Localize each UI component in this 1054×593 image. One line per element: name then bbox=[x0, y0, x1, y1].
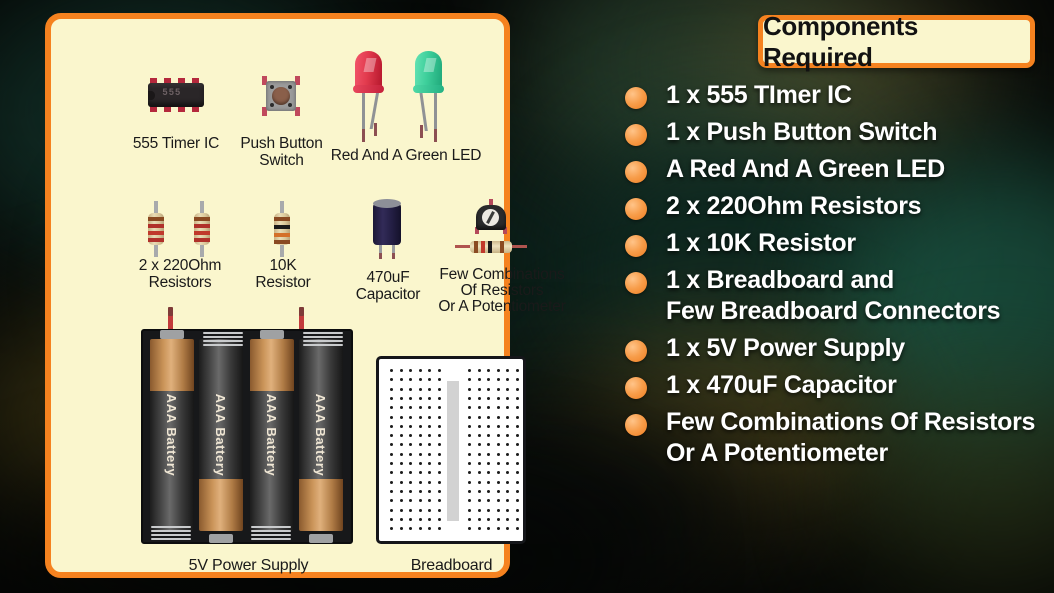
breadboard-hole bbox=[516, 369, 519, 372]
breadboard-hole bbox=[400, 434, 403, 437]
breadboard-hole bbox=[390, 425, 393, 428]
list-item-line: 1 x 555 TImer IC bbox=[666, 80, 1050, 111]
breadboard-hole bbox=[516, 388, 519, 391]
requirements-list: 1 x 555 TImer IC1 x Push Button SwitchA … bbox=[625, 80, 1050, 475]
breadboard-hole bbox=[487, 518, 490, 521]
breadboard-hole bbox=[506, 499, 509, 502]
breadboard-hole bbox=[487, 481, 490, 484]
breadboard-hole bbox=[468, 481, 471, 484]
breadboard-hole bbox=[506, 369, 509, 372]
list-item-line: 1 x Push Button Switch bbox=[666, 117, 1050, 148]
bullet-icon bbox=[625, 198, 647, 220]
breadboard-hole bbox=[409, 425, 412, 428]
breadboard-hole bbox=[506, 425, 509, 428]
breadboard-hole bbox=[390, 443, 393, 446]
list-item: 1 x 470uF Capacitor bbox=[625, 370, 1050, 401]
breadboard-hole bbox=[428, 490, 431, 493]
breadboard-hole bbox=[468, 434, 471, 437]
breadboard-hole bbox=[506, 471, 509, 474]
breadboard-hole bbox=[428, 462, 431, 465]
breadboard-hole bbox=[390, 509, 393, 512]
list-item: 1 x Breadboard andFew Breadboard Connect… bbox=[625, 265, 1050, 327]
breadboard-hole bbox=[409, 416, 412, 419]
breadboard-hole bbox=[419, 388, 422, 391]
breadboard-hole bbox=[487, 453, 490, 456]
led-icon bbox=[349, 51, 389, 143]
breadboard-hole bbox=[409, 388, 412, 391]
breadboard-hole bbox=[468, 378, 471, 381]
breadboard-hole bbox=[478, 388, 481, 391]
breadboard-hole bbox=[487, 462, 490, 465]
breadboard-hole bbox=[438, 499, 441, 502]
breadboard-hole bbox=[390, 388, 393, 391]
breadboard-hole bbox=[487, 388, 490, 391]
breadboard-hole bbox=[409, 369, 412, 372]
breadboard-hole bbox=[478, 434, 481, 437]
breadboard-hole bbox=[487, 527, 490, 530]
breadboard-hole bbox=[409, 471, 412, 474]
breadboard-hole bbox=[428, 416, 431, 419]
list-item-text: 1 x 470uF Capacitor bbox=[666, 370, 1050, 401]
breadboard-hole bbox=[487, 443, 490, 446]
breadboard-hole bbox=[409, 462, 412, 465]
breadboard-hole bbox=[400, 490, 403, 493]
breadboard-hole bbox=[468, 509, 471, 512]
list-item-line: Few Breadboard Connectors bbox=[666, 296, 1050, 327]
breadboard-hole bbox=[487, 434, 490, 437]
list-item-line: 2 x 220Ohm Resistors bbox=[666, 191, 1050, 222]
breadboard-hole bbox=[438, 434, 441, 437]
list-item-text: 1 x Breadboard andFew Breadboard Connect… bbox=[666, 265, 1050, 327]
breadboard-hole bbox=[419, 527, 422, 530]
breadboard-hole bbox=[400, 378, 403, 381]
breadboard-hole bbox=[400, 518, 403, 521]
breadboard-hole bbox=[400, 425, 403, 428]
breadboard-hole bbox=[409, 527, 412, 530]
breadboard-hole bbox=[390, 397, 393, 400]
battery-label: AAA Battery bbox=[299, 339, 343, 531]
breadboard-hole bbox=[428, 527, 431, 530]
breadboard-hole bbox=[390, 434, 393, 437]
list-item: 1 x 555 TImer IC bbox=[625, 80, 1050, 111]
breadboard-hole bbox=[400, 462, 403, 465]
battery-label: AAA Battery bbox=[250, 339, 294, 531]
caption-breadboard: Breadboard bbox=[359, 557, 544, 574]
breadboard-hole bbox=[478, 425, 481, 428]
breadboard-hole bbox=[419, 434, 422, 437]
breadboard-hole bbox=[468, 406, 471, 409]
breadboard-hole bbox=[516, 416, 519, 419]
caption-potentiometer: Few Combinations Of Resistors Or A Poten… bbox=[417, 267, 587, 315]
breadboard-hole bbox=[497, 406, 500, 409]
breadboard-hole bbox=[438, 416, 441, 419]
battery-label: AAA Battery bbox=[150, 339, 194, 531]
breadboard-hole bbox=[478, 378, 481, 381]
breadboard-hole bbox=[419, 406, 422, 409]
breadboard-hole bbox=[487, 471, 490, 474]
breadboard-hole bbox=[419, 499, 422, 502]
breadboard-hole bbox=[390, 406, 393, 409]
breadboard-hole bbox=[428, 425, 431, 428]
push-button-switch-icon bbox=[260, 76, 302, 116]
breadboard-hole bbox=[468, 462, 471, 465]
breadboard-hole bbox=[468, 443, 471, 446]
breadboard-hole bbox=[438, 369, 441, 372]
breadboard-hole bbox=[468, 471, 471, 474]
breadboard-hole bbox=[390, 462, 393, 465]
breadboard-hole bbox=[487, 490, 490, 493]
breadboard-hole bbox=[390, 499, 393, 502]
breadboard-hole bbox=[400, 406, 403, 409]
breadboard-hole bbox=[516, 434, 519, 437]
breadboard-hole bbox=[409, 518, 412, 521]
list-item: Few Combinations Of ResistorsOr A Potent… bbox=[625, 407, 1050, 469]
list-item: 1 x Push Button Switch bbox=[625, 117, 1050, 148]
breadboard-hole bbox=[487, 416, 490, 419]
breadboard-hole bbox=[497, 527, 500, 530]
breadboard-hole bbox=[497, 490, 500, 493]
breadboard-hole bbox=[516, 509, 519, 512]
breadboard-hole bbox=[497, 397, 500, 400]
breadboard-hole bbox=[400, 499, 403, 502]
breadboard-hole bbox=[506, 527, 509, 530]
breadboard-hole bbox=[497, 509, 500, 512]
breadboard-hole bbox=[487, 397, 490, 400]
breadboard-hole bbox=[478, 369, 481, 372]
breadboard-hole bbox=[478, 499, 481, 502]
breadboard-hole bbox=[516, 490, 519, 493]
breadboard-hole bbox=[506, 434, 509, 437]
breadboard-hole bbox=[419, 378, 422, 381]
breadboard-hole bbox=[438, 518, 441, 521]
breadboard-hole bbox=[438, 527, 441, 530]
breadboard-hole bbox=[478, 490, 481, 493]
breadboard-hole bbox=[468, 527, 471, 530]
page-title-text: Components Required bbox=[763, 11, 1030, 73]
breadboard-hole bbox=[438, 471, 441, 474]
list-item-text: 2 x 220Ohm Resistors bbox=[666, 191, 1050, 222]
breadboard-hole bbox=[390, 518, 393, 521]
list-item-text: 1 x 555 TImer IC bbox=[666, 80, 1050, 111]
trimmer-potentiometer-icon bbox=[471, 199, 511, 237]
breadboard-hole bbox=[516, 443, 519, 446]
ic-marking: 555 bbox=[144, 87, 200, 97]
breadboard-hole bbox=[487, 425, 490, 428]
breadboard-hole bbox=[409, 406, 412, 409]
breadboard-hole bbox=[409, 443, 412, 446]
breadboard-hole bbox=[400, 509, 403, 512]
breadboard-hole bbox=[506, 378, 509, 381]
list-item-line: Few Combinations Of Resistors bbox=[666, 407, 1050, 438]
breadboard-hole bbox=[516, 378, 519, 381]
breadboard-hole bbox=[428, 453, 431, 456]
breadboard-hole bbox=[419, 416, 422, 419]
resistor-icon bbox=[455, 240, 527, 254]
bullet-icon bbox=[625, 235, 647, 257]
breadboard-hole bbox=[497, 434, 500, 437]
list-item: 1 x 10K Resistor bbox=[625, 228, 1050, 259]
breadboard-hole bbox=[419, 397, 422, 400]
breadboard-hole bbox=[478, 471, 481, 474]
breadboard-hole bbox=[419, 425, 422, 428]
breadboard-hole bbox=[478, 397, 481, 400]
breadboard-hole bbox=[516, 425, 519, 428]
list-item: A Red And A Green LED bbox=[625, 154, 1050, 185]
breadboard-hole bbox=[497, 462, 500, 465]
resistor-icon bbox=[273, 201, 291, 257]
breadboard-hole bbox=[478, 481, 481, 484]
breadboard-hole bbox=[497, 416, 500, 419]
breadboard-hole bbox=[487, 509, 490, 512]
led-icon bbox=[409, 51, 449, 143]
breadboard-hole bbox=[400, 388, 403, 391]
breadboard-hole bbox=[438, 462, 441, 465]
breadboard-hole bbox=[428, 406, 431, 409]
breadboard-hole bbox=[516, 518, 519, 521]
breadboard-hole bbox=[468, 397, 471, 400]
breadboard-hole bbox=[487, 499, 490, 502]
breadboard-hole bbox=[438, 490, 441, 493]
breadboard-hole bbox=[506, 406, 509, 409]
breadboard-hole bbox=[516, 462, 519, 465]
breadboard-hole bbox=[506, 462, 509, 465]
breadboard-hole bbox=[419, 509, 422, 512]
breadboard-hole bbox=[478, 462, 481, 465]
breadboard-hole bbox=[487, 378, 490, 381]
breadboard-hole bbox=[409, 434, 412, 437]
breadboard-hole bbox=[390, 481, 393, 484]
page-title: Components Required bbox=[758, 15, 1035, 68]
breadboard-hole bbox=[506, 453, 509, 456]
breadboard-hole bbox=[390, 527, 393, 530]
caption-resistors-220: 2 x 220Ohm Resistors bbox=[109, 257, 251, 291]
breadboard-hole bbox=[390, 378, 393, 381]
breadboard-hole bbox=[497, 388, 500, 391]
breadboard-hole bbox=[497, 378, 500, 381]
bullet-icon bbox=[625, 161, 647, 183]
breadboard-hole bbox=[438, 388, 441, 391]
breadboard-hole bbox=[468, 490, 471, 493]
breadboard-icon bbox=[376, 356, 526, 544]
breadboard-hole bbox=[400, 369, 403, 372]
list-item-text: 1 x 10K Resistor bbox=[666, 228, 1050, 259]
breadboard-hole bbox=[438, 481, 441, 484]
breadboard-hole bbox=[478, 518, 481, 521]
breadboard-hole bbox=[409, 499, 412, 502]
breadboard-hole bbox=[428, 509, 431, 512]
components-illustration-panel: 555 555 Timer IC Push Button Switch Red … bbox=[45, 13, 510, 578]
breadboard-hole bbox=[419, 369, 422, 372]
breadboard-hole bbox=[438, 378, 441, 381]
breadboard-hole bbox=[468, 388, 471, 391]
breadboard-hole bbox=[497, 471, 500, 474]
breadboard-hole bbox=[428, 369, 431, 372]
breadboard-hole bbox=[409, 509, 412, 512]
breadboard-hole bbox=[400, 397, 403, 400]
breadboard-hole bbox=[506, 490, 509, 493]
breadboard-hole bbox=[516, 481, 519, 484]
bullet-icon bbox=[625, 272, 647, 294]
breadboard-hole bbox=[478, 406, 481, 409]
breadboard-hole bbox=[419, 481, 422, 484]
breadboard-hole bbox=[400, 416, 403, 419]
breadboard-hole bbox=[438, 453, 441, 456]
battery-label: AAA Battery bbox=[199, 339, 243, 531]
breadboard-hole bbox=[428, 378, 431, 381]
breadboard-hole bbox=[516, 453, 519, 456]
breadboard-hole bbox=[400, 527, 403, 530]
breadboard-hole bbox=[438, 406, 441, 409]
breadboard-hole bbox=[506, 509, 509, 512]
breadboard-hole bbox=[478, 453, 481, 456]
breadboard-hole bbox=[497, 481, 500, 484]
breadboard-hole bbox=[419, 518, 422, 521]
breadboard-hole bbox=[409, 453, 412, 456]
breadboard-hole bbox=[419, 462, 422, 465]
breadboard-hole bbox=[409, 397, 412, 400]
breadboard-hole bbox=[506, 397, 509, 400]
battery-holder-icon: AAA Battery AAA Battery AAA Battery AAA … bbox=[141, 329, 353, 544]
breadboard-hole bbox=[487, 406, 490, 409]
breadboard-hole bbox=[478, 443, 481, 446]
breadboard-hole bbox=[409, 378, 412, 381]
list-item-line: 1 x 10K Resistor bbox=[666, 228, 1050, 259]
list-item: 2 x 220Ohm Resistors bbox=[625, 191, 1050, 222]
breadboard-hole bbox=[478, 527, 481, 530]
breadboard-hole bbox=[400, 481, 403, 484]
caption-resistor-10k: 10K Resistor bbox=[233, 257, 333, 291]
breadboard-hole bbox=[468, 453, 471, 456]
breadboard-hole bbox=[409, 490, 412, 493]
breadboard-hole bbox=[497, 425, 500, 428]
caption-leds: Red And A Green LED bbox=[306, 147, 506, 164]
breadboard-hole bbox=[516, 397, 519, 400]
breadboard-hole bbox=[400, 471, 403, 474]
breadboard-hole bbox=[468, 499, 471, 502]
bullet-icon bbox=[625, 414, 647, 436]
breadboard-hole bbox=[428, 471, 431, 474]
breadboard-hole bbox=[390, 471, 393, 474]
electrolytic-capacitor-icon bbox=[364, 197, 410, 259]
breadboard-hole bbox=[419, 443, 422, 446]
breadboard-hole bbox=[516, 499, 519, 502]
bullet-icon bbox=[625, 340, 647, 362]
dip-ic-icon: 555 bbox=[144, 78, 208, 112]
breadboard-hole bbox=[428, 434, 431, 437]
breadboard-hole bbox=[506, 518, 509, 521]
list-item-line: A Red And A Green LED bbox=[666, 154, 1050, 185]
list-item-line: Or A Potentiometer bbox=[666, 438, 1050, 469]
breadboard-hole bbox=[400, 443, 403, 446]
resistor-icon bbox=[193, 201, 211, 257]
breadboard-hole bbox=[428, 481, 431, 484]
list-item-text: Few Combinations Of ResistorsOr A Potent… bbox=[666, 407, 1050, 469]
list-item: 1 x 5V Power Supply bbox=[625, 333, 1050, 364]
bullet-icon bbox=[625, 124, 647, 146]
breadboard-hole bbox=[516, 406, 519, 409]
list-item-line: 1 x 5V Power Supply bbox=[666, 333, 1050, 364]
breadboard-hole bbox=[497, 453, 500, 456]
breadboard-hole bbox=[400, 453, 403, 456]
breadboard-hole bbox=[419, 453, 422, 456]
list-item-text: 1 x 5V Power Supply bbox=[666, 333, 1050, 364]
caption-power-supply: 5V Power Supply bbox=[161, 557, 336, 574]
list-item-line: 1 x Breadboard and bbox=[666, 265, 1050, 296]
breadboard-hole bbox=[428, 518, 431, 521]
breadboard-hole bbox=[390, 416, 393, 419]
breadboard-hole bbox=[478, 416, 481, 419]
breadboard-hole bbox=[419, 471, 422, 474]
breadboard-hole bbox=[506, 416, 509, 419]
breadboard-hole bbox=[506, 481, 509, 484]
breadboard-hole bbox=[390, 453, 393, 456]
resistor-icon bbox=[147, 201, 165, 257]
breadboard-hole bbox=[468, 416, 471, 419]
list-item-line: 1 x 470uF Capacitor bbox=[666, 370, 1050, 401]
breadboard-hole bbox=[438, 425, 441, 428]
breadboard-hole bbox=[438, 509, 441, 512]
breadboard-hole bbox=[497, 499, 500, 502]
bullet-icon bbox=[625, 87, 647, 109]
breadboard-hole bbox=[468, 369, 471, 372]
breadboard-hole bbox=[497, 443, 500, 446]
breadboard-hole bbox=[506, 388, 509, 391]
breadboard-hole bbox=[428, 499, 431, 502]
breadboard-hole bbox=[468, 518, 471, 521]
breadboard-hole bbox=[497, 518, 500, 521]
breadboard-hole bbox=[428, 397, 431, 400]
breadboard-hole bbox=[516, 471, 519, 474]
breadboard-hole bbox=[438, 443, 441, 446]
breadboard-hole bbox=[497, 369, 500, 372]
breadboard-hole bbox=[468, 425, 471, 428]
breadboard-hole bbox=[516, 527, 519, 530]
breadboard-hole bbox=[438, 397, 441, 400]
list-item-text: 1 x Push Button Switch bbox=[666, 117, 1050, 148]
breadboard-hole bbox=[409, 481, 412, 484]
breadboard-hole bbox=[487, 369, 490, 372]
list-item-text: A Red And A Green LED bbox=[666, 154, 1050, 185]
breadboard-hole bbox=[390, 369, 393, 372]
breadboard-hole bbox=[428, 443, 431, 446]
breadboard-hole bbox=[428, 388, 431, 391]
bullet-icon bbox=[625, 377, 647, 399]
breadboard-hole bbox=[390, 490, 393, 493]
breadboard-hole bbox=[478, 509, 481, 512]
breadboard-hole bbox=[419, 490, 422, 493]
breadboard-hole bbox=[506, 443, 509, 446]
